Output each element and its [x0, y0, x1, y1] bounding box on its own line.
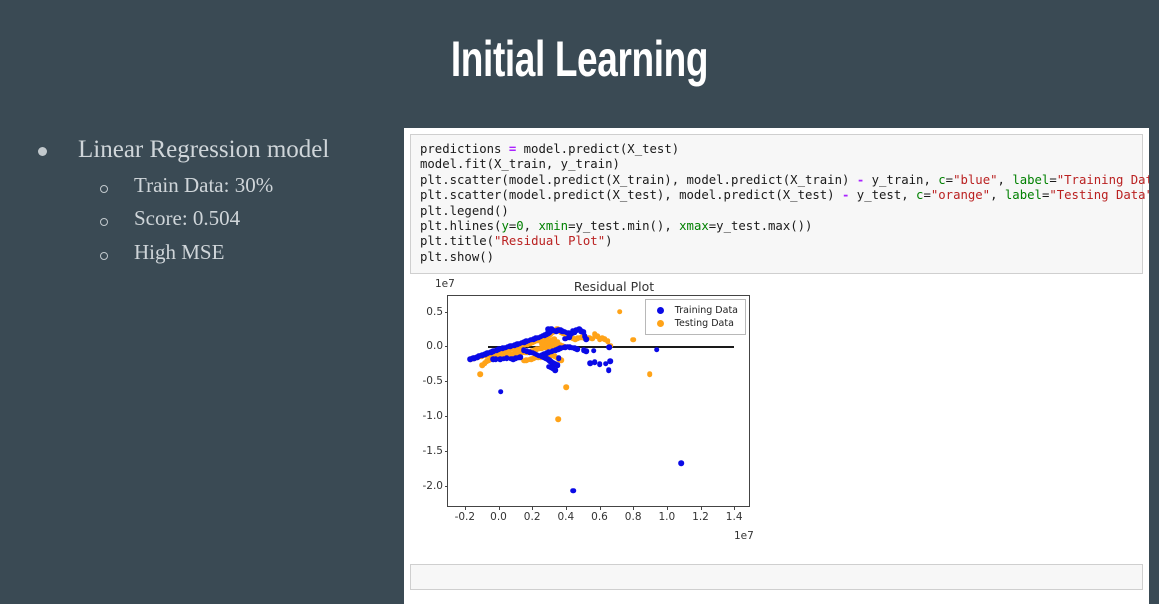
x-axis-tick-mark [701, 506, 702, 510]
scatter-point [606, 367, 612, 373]
x-axis-tick-label: -0.2 [455, 511, 476, 523]
legend-marker-testing-icon [657, 320, 664, 327]
y-axis-offset-label: 1e7 [435, 278, 455, 290]
bullet-level2-label: Score: 0.504 [134, 206, 240, 230]
x-axis-tick-mark [600, 506, 601, 510]
scatter-point [556, 416, 562, 422]
scatter-point [539, 341, 545, 347]
x-axis-tick-label: 0.6 [591, 511, 608, 523]
scatter-point [518, 354, 524, 360]
bullet-circle-icon [100, 252, 108, 260]
y-axis-tick-label: 0.5 [426, 306, 443, 318]
x-axis-tick-mark [499, 506, 500, 510]
bullet-level2: Train Data: 30% [28, 172, 398, 199]
scatter-point [608, 359, 614, 365]
y-axis-tick-mark [445, 451, 449, 452]
scatter-point [556, 355, 562, 361]
code-cell[interactable]: predictions = model.predict(X_test) mode… [410, 134, 1143, 274]
y-axis-tick-mark [445, 346, 449, 347]
x-axis-tick-label: 1.2 [692, 511, 709, 523]
y-axis-tick-mark [445, 381, 449, 382]
scatter-point [647, 372, 653, 378]
legend-entry: Training Data [652, 304, 738, 317]
x-axis-tick-label: 1.0 [658, 511, 675, 523]
x-axis-tick-label: 0.2 [524, 511, 541, 523]
notebook-panel: predictions = model.predict(X_test) mode… [404, 128, 1149, 604]
bullet-level2: Score: 0.504 [28, 205, 398, 232]
bullet-level1: Linear Regression model [28, 134, 398, 166]
scatter-point [591, 348, 597, 354]
x-axis-tick-mark [633, 506, 634, 510]
page-title: Initial Learning [151, 30, 1009, 88]
x-axis-tick-label: 0.8 [625, 511, 642, 523]
scatter-point [583, 336, 589, 342]
x-axis-tick-label: 0.0 [490, 511, 507, 523]
y-axis-tick-mark [445, 416, 449, 417]
x-axis-offset-label: 1e7 [734, 530, 754, 542]
code-text: predictions = model.predict(X_test) mode… [420, 142, 1133, 265]
y-axis-tick-mark [445, 486, 449, 487]
chart-title: Residual Plot [454, 279, 774, 294]
scatter-point [597, 361, 603, 367]
residual-plot-figure: Residual Plot 1e7 1e7 0.50.0-0.5-1.0-1.5… [404, 274, 1149, 564]
code-cell-empty[interactable] [410, 564, 1143, 590]
y-axis-tick-label: -1.5 [423, 445, 444, 457]
slide: Initial Learning Linear Regression model… [0, 0, 1159, 604]
bullet-level2-label: Train Data: 30% [134, 173, 273, 197]
x-axis-tick-mark [532, 506, 533, 510]
legend-label: Testing Data [675, 318, 734, 329]
x-axis-tick-mark [667, 506, 668, 510]
scatter-point [654, 347, 660, 353]
y-axis-tick-label: -1.0 [423, 410, 444, 422]
scatter-point [630, 337, 636, 343]
scatter-point [570, 488, 576, 494]
scatter-point [583, 349, 589, 355]
scatter-point [579, 328, 585, 334]
chart-legend: Training Data Testing Data [645, 299, 746, 335]
legend-marker-training-icon [657, 307, 664, 314]
bullet-level1-label: Linear Regression model [78, 136, 329, 163]
scatter-point [678, 460, 684, 466]
y-axis-tick-label: 0.0 [426, 340, 443, 352]
bullet-list: Linear Regression model Train Data: 30% … [28, 134, 398, 272]
x-axis-tick-mark [734, 506, 735, 510]
scatter-point [617, 309, 623, 315]
scatter-point [552, 367, 558, 373]
scatter-point [563, 384, 569, 390]
legend-label: Training Data [675, 305, 738, 316]
x-axis-tick-mark [465, 506, 466, 510]
legend-entry: Testing Data [652, 317, 738, 330]
bullet-circle-icon [100, 218, 108, 226]
x-axis-tick-label: 0.4 [557, 511, 574, 523]
y-axis-tick-mark [445, 312, 449, 313]
scatter-point [606, 344, 612, 350]
x-axis-tick-mark [566, 506, 567, 510]
x-axis-tick-label: 1.4 [726, 511, 743, 523]
y-axis-tick-label: -0.5 [423, 375, 444, 387]
bullet-level2-label: High MSE [134, 240, 224, 264]
y-axis-tick-label: -2.0 [423, 480, 444, 492]
bullet-circle-icon [100, 185, 108, 193]
plot-axes: 0.50.0-0.5-1.0-1.5-2.0-0.20.00.20.40.60.… [447, 295, 750, 507]
scatter-point [574, 346, 580, 352]
bullet-dot-icon [38, 147, 47, 156]
scatter-point [504, 355, 510, 361]
scatter-point [498, 389, 504, 395]
bullet-level2: High MSE [28, 239, 398, 266]
scatter-point [477, 371, 483, 377]
scatter-point [563, 336, 569, 342]
